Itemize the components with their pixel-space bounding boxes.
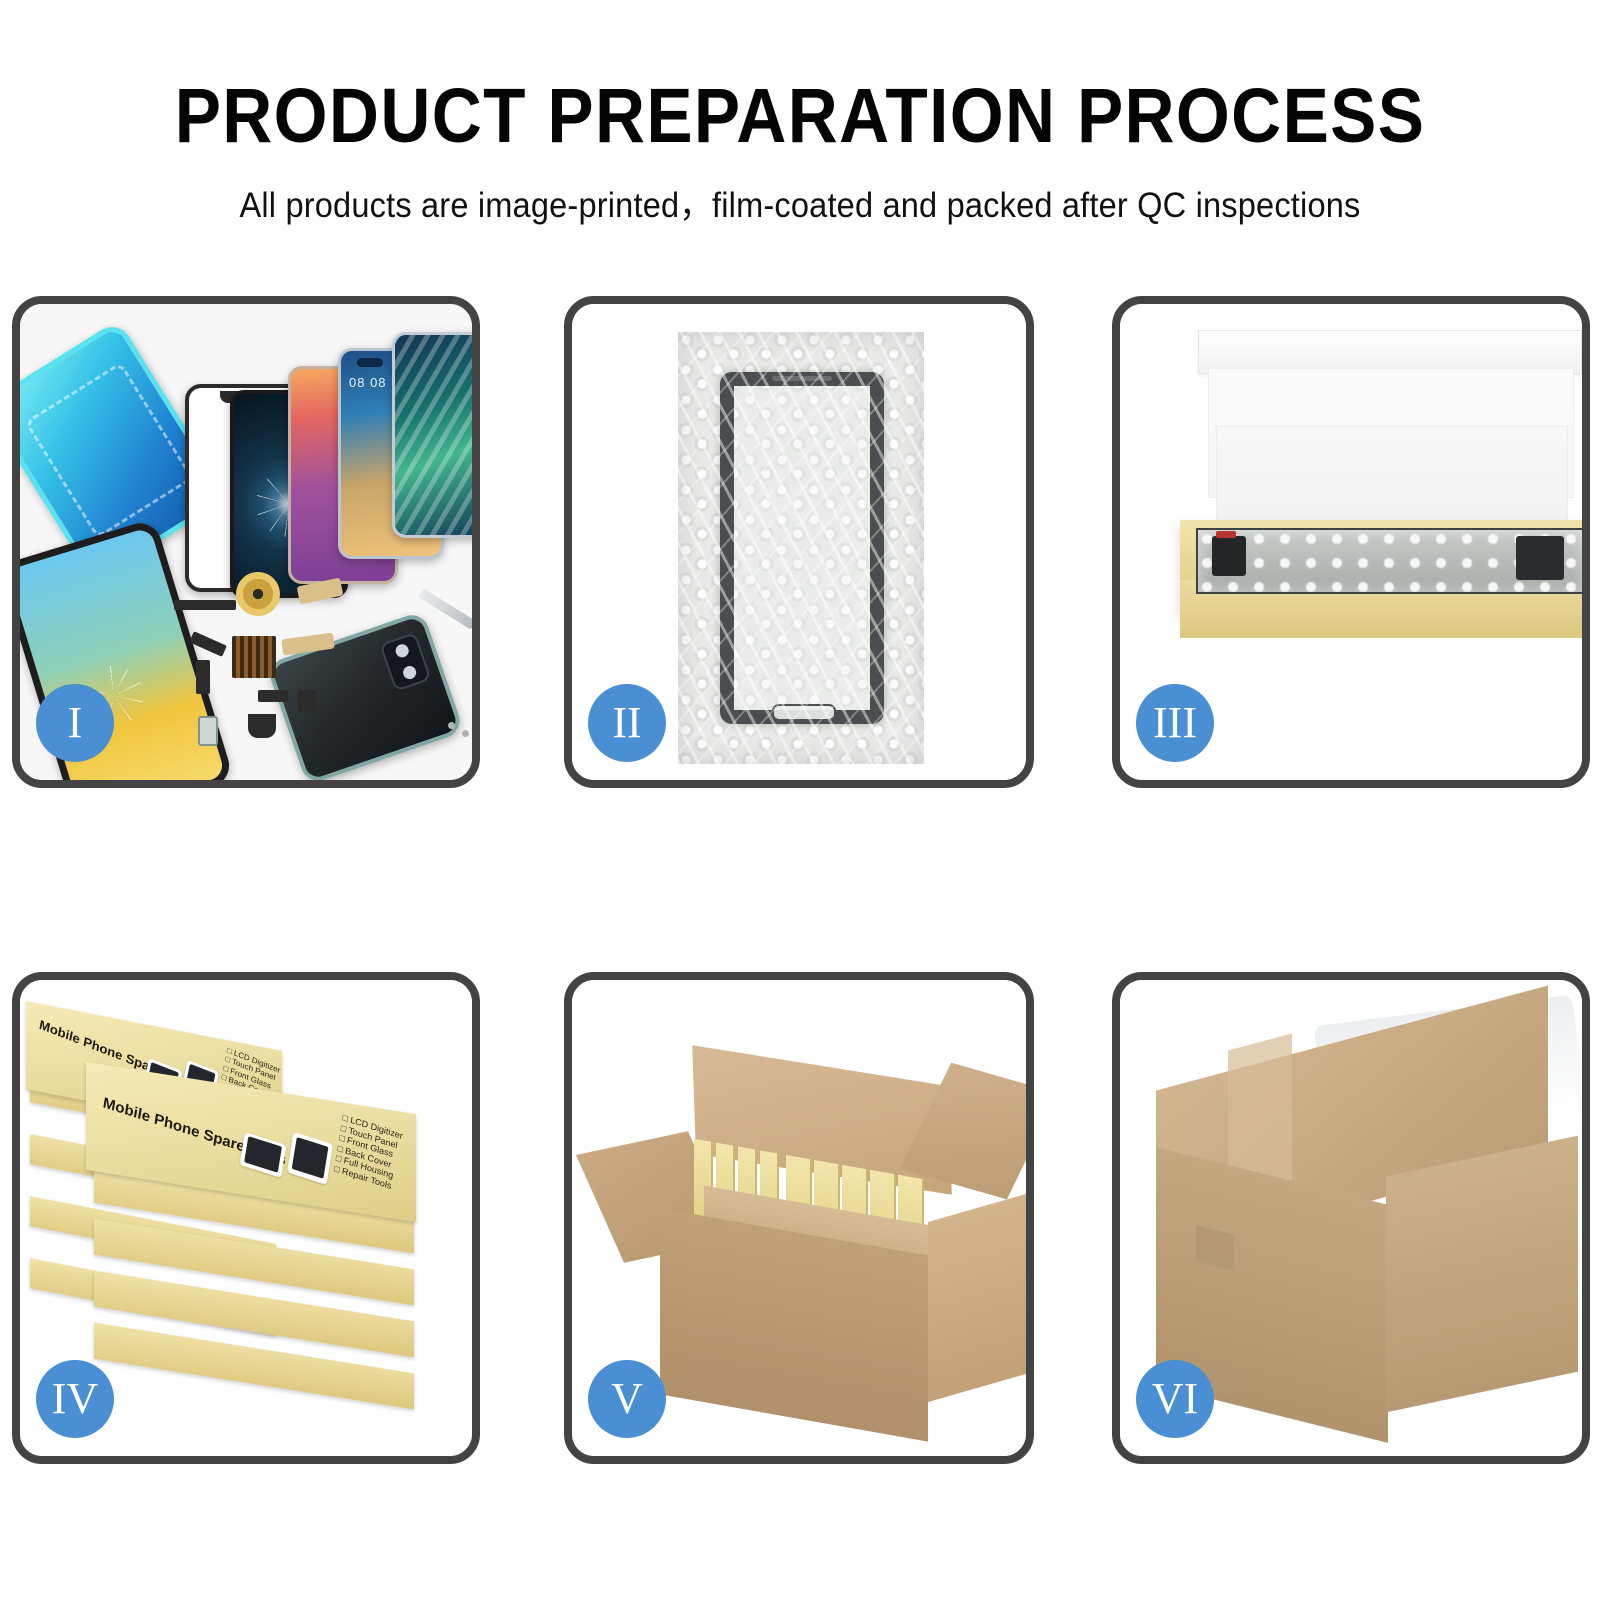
process-step-panel-2: II bbox=[564, 296, 1034, 788]
process-step-panel-5: V bbox=[564, 972, 1034, 1464]
step-badge-4: IV bbox=[36, 1360, 114, 1438]
box-label-thumbnail-2a bbox=[240, 1132, 287, 1178]
sealed-carton-side bbox=[1386, 1136, 1578, 1413]
spare-part-sim-tray bbox=[198, 716, 218, 746]
spare-part-screw-b bbox=[462, 730, 469, 737]
box-label-checklist-2: LCD Digitizer Touch Panel Front Glass Ba… bbox=[333, 1112, 403, 1192]
spare-part-button bbox=[298, 690, 316, 712]
process-step-panel-4: Mobile Phone Spare Parts LCD Digitizer T… bbox=[12, 972, 480, 1464]
spare-part-ic-chip bbox=[232, 636, 276, 678]
screen-connector-block bbox=[1516, 536, 1564, 580]
phone-clock-text: 08 08 bbox=[349, 375, 387, 390]
process-step-panel-1: 08 08 I bbox=[12, 296, 480, 788]
process-step-panel-6: VI bbox=[1112, 972, 1590, 1464]
box-label-thumbnail-2b bbox=[287, 1132, 333, 1185]
spare-part-speaker bbox=[174, 600, 236, 610]
home-button-icon bbox=[772, 704, 836, 721]
camera-module-icon bbox=[379, 632, 431, 692]
process-step-panel-3: III bbox=[1112, 296, 1590, 788]
step-badge-6: VI bbox=[1136, 1360, 1214, 1438]
carton-body-side bbox=[928, 1190, 1034, 1402]
step-badge-2: II bbox=[588, 684, 666, 762]
step-badge-3: III bbox=[1136, 684, 1214, 762]
bubble-wrap-sheet bbox=[678, 332, 924, 764]
step-badge-1: I bbox=[36, 684, 114, 762]
spare-part-connector bbox=[196, 660, 210, 694]
spare-part-earpiece bbox=[248, 714, 276, 738]
spare-part-wireless-coil bbox=[236, 572, 280, 616]
spare-part-vibrator bbox=[258, 690, 288, 702]
wrapped-phone-screen bbox=[720, 372, 884, 724]
green-wave-phone bbox=[392, 332, 480, 538]
step-badge-5: V bbox=[588, 1360, 666, 1438]
spare-part-screw-a bbox=[448, 722, 455, 729]
earpiece-slot-icon bbox=[772, 376, 832, 381]
process-step-grid: 08 08 I bbox=[0, 0, 1600, 1600]
screen-flex-cable bbox=[1212, 536, 1246, 576]
